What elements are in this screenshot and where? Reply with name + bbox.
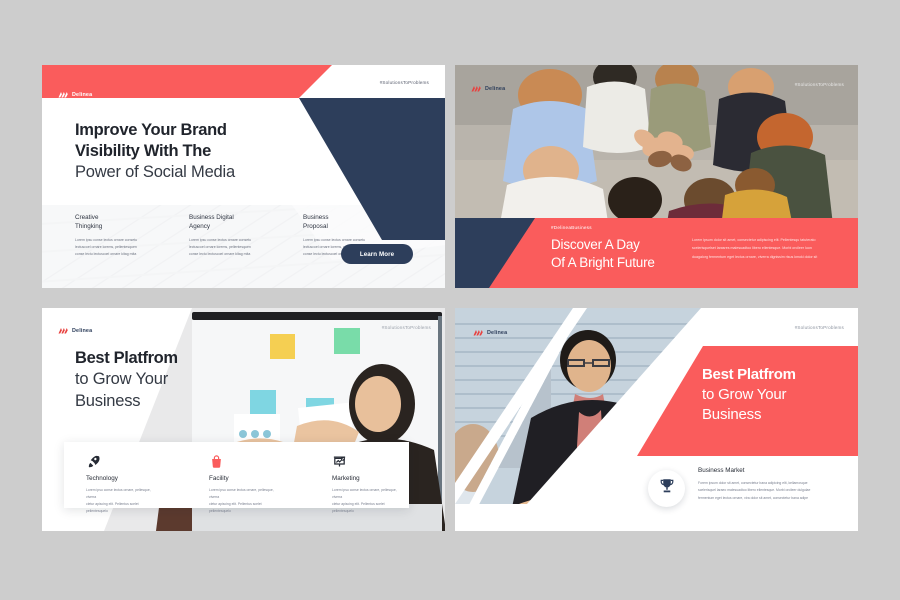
feature-body: Lorem ipsu conse lectus ornare, pellesqu…: [86, 487, 161, 516]
feature-body: Lorem ipsu conse lectus ornare, pellesqu…: [332, 487, 407, 516]
rocket-icon: [86, 454, 161, 470]
feature-item[interactable]: Marketing Lorem ipsu conse lectus ornare…: [332, 454, 407, 516]
title-line-1: Discover A Day: [551, 236, 655, 254]
feature-item[interactable]: Technology Lorem ipsu conse lectus ornar…: [86, 454, 161, 516]
headline-line-2: to Grow Your: [75, 369, 178, 390]
slide-body-text: Lorem ipsum dolor sit amet, consectetur …: [692, 236, 838, 261]
logo-zigzag-icon: [473, 324, 484, 342]
title-line-3: Business: [702, 405, 796, 425]
trophy-icon: [658, 477, 676, 500]
slide-3[interactable]: Delinea #SolutionsToProblems Best Platfr…: [42, 308, 445, 531]
headline-line-1: Improve Your Brand: [75, 120, 235, 141]
headline: Best Platfrom to Grow Your Business: [75, 348, 178, 412]
photo-team-hands: [455, 65, 858, 225]
title-line-1: Best Platfrom: [702, 365, 796, 385]
title-line-2: to Grow Your: [702, 385, 796, 405]
feature-title: Marketing: [332, 475, 407, 482]
column-body: Lorem ipsu conse lectus ornare consetu l…: [189, 237, 277, 258]
feature-title: Facility: [209, 475, 284, 482]
slide-deck-preview: Delinea #SolutionsToProblems Improve You…: [0, 0, 900, 600]
slide-4[interactable]: Delinea #SolutionsToProblems Best Platfr…: [455, 308, 858, 531]
headline-line-2: Visibility With The: [75, 141, 235, 162]
feature-block: Business Market Forem ipsum dolor sit am…: [648, 467, 838, 507]
slide-title: Best Platfrom to Grow Your Business: [702, 365, 796, 424]
feature-body: Lorem ipsu conse lectus ornare, pellesqu…: [209, 487, 284, 516]
slide-title: Discover A Day Of A Bright Future: [551, 236, 655, 272]
headline-line-3: Business: [75, 391, 178, 412]
brand-logo[interactable]: Delinea: [471, 80, 505, 98]
hashtag-label: #SolutionsToProblems: [380, 80, 429, 85]
logo-text: Delinea: [72, 92, 92, 98]
column-body: Lorem ipsu conse lectus ornare consetu l…: [75, 237, 163, 258]
navy-triangle-shape: [455, 218, 535, 288]
column-heading: Creative Thingking: [75, 213, 163, 231]
body-line-2: scelerisquelset larasres malesuadtoo lib…: [692, 244, 838, 252]
logo-text: Delinea: [72, 328, 92, 334]
presentation-chart-icon: [332, 454, 407, 470]
learn-more-button-wrapper[interactable]: Learn More: [341, 244, 413, 264]
brand-logo[interactable]: Delinea: [58, 86, 92, 104]
brand-logo[interactable]: Delinea: [473, 324, 507, 342]
headline-line-3: Power of Social Media: [75, 162, 235, 183]
feature-body: Forem ipsum dolor sit amet, consectetur …: [698, 480, 838, 502]
feature-card: Technology Lorem ipsu conse lectus ornar…: [64, 442, 409, 508]
feature-column: Business Digital Agency Lorem ipsu conse…: [189, 213, 277, 258]
logo-zigzag-icon: [58, 322, 69, 340]
feature-text: Business Market Forem ipsum dolor sit am…: [698, 467, 838, 502]
feature-title: Technology: [86, 475, 161, 482]
slide-2[interactable]: Delinea #SolutionsToProblems #DelineaBus…: [455, 65, 858, 288]
logo-zigzag-icon: [58, 86, 69, 104]
hashtag-label: #SolutionsToProblems: [382, 325, 431, 330]
feature-title: Business Market: [698, 467, 838, 474]
feature-item[interactable]: Facility Lorem ipsu conse lectus ornare,…: [209, 454, 284, 516]
section-tag: #DelineaBusiness: [551, 225, 592, 230]
column-heading: Business Digital Agency: [189, 213, 277, 231]
logo-text: Delinea: [487, 330, 507, 336]
learn-more-button[interactable]: Learn More: [341, 244, 413, 264]
title-line-2: Of A Bright Future: [551, 254, 655, 272]
hashtag-label: #SolutionsToProblems: [795, 325, 844, 330]
feature-column: Creative Thingking Lorem ipsu conse lect…: [75, 213, 163, 258]
logo-text: Delinea: [485, 86, 505, 92]
hashtag-label: #SolutionsToProblems: [795, 82, 844, 87]
headline: Improve Your Brand Visibility With The P…: [75, 120, 235, 183]
body-line-3: duagalorg fermentum eget lectus ornare, …: [692, 253, 838, 261]
shopping-bag-icon: [209, 454, 284, 470]
column-heading: Business Proposal: [303, 213, 391, 231]
headline-line-1: Best Platfrom: [75, 348, 178, 369]
trophy-icon-circle: [648, 470, 685, 507]
logo-zigzag-icon: [471, 80, 482, 98]
brand-logo[interactable]: Delinea: [58, 322, 92, 340]
body-line-1: Lorem ipsum dolor sit amet, consectetur …: [692, 236, 838, 244]
